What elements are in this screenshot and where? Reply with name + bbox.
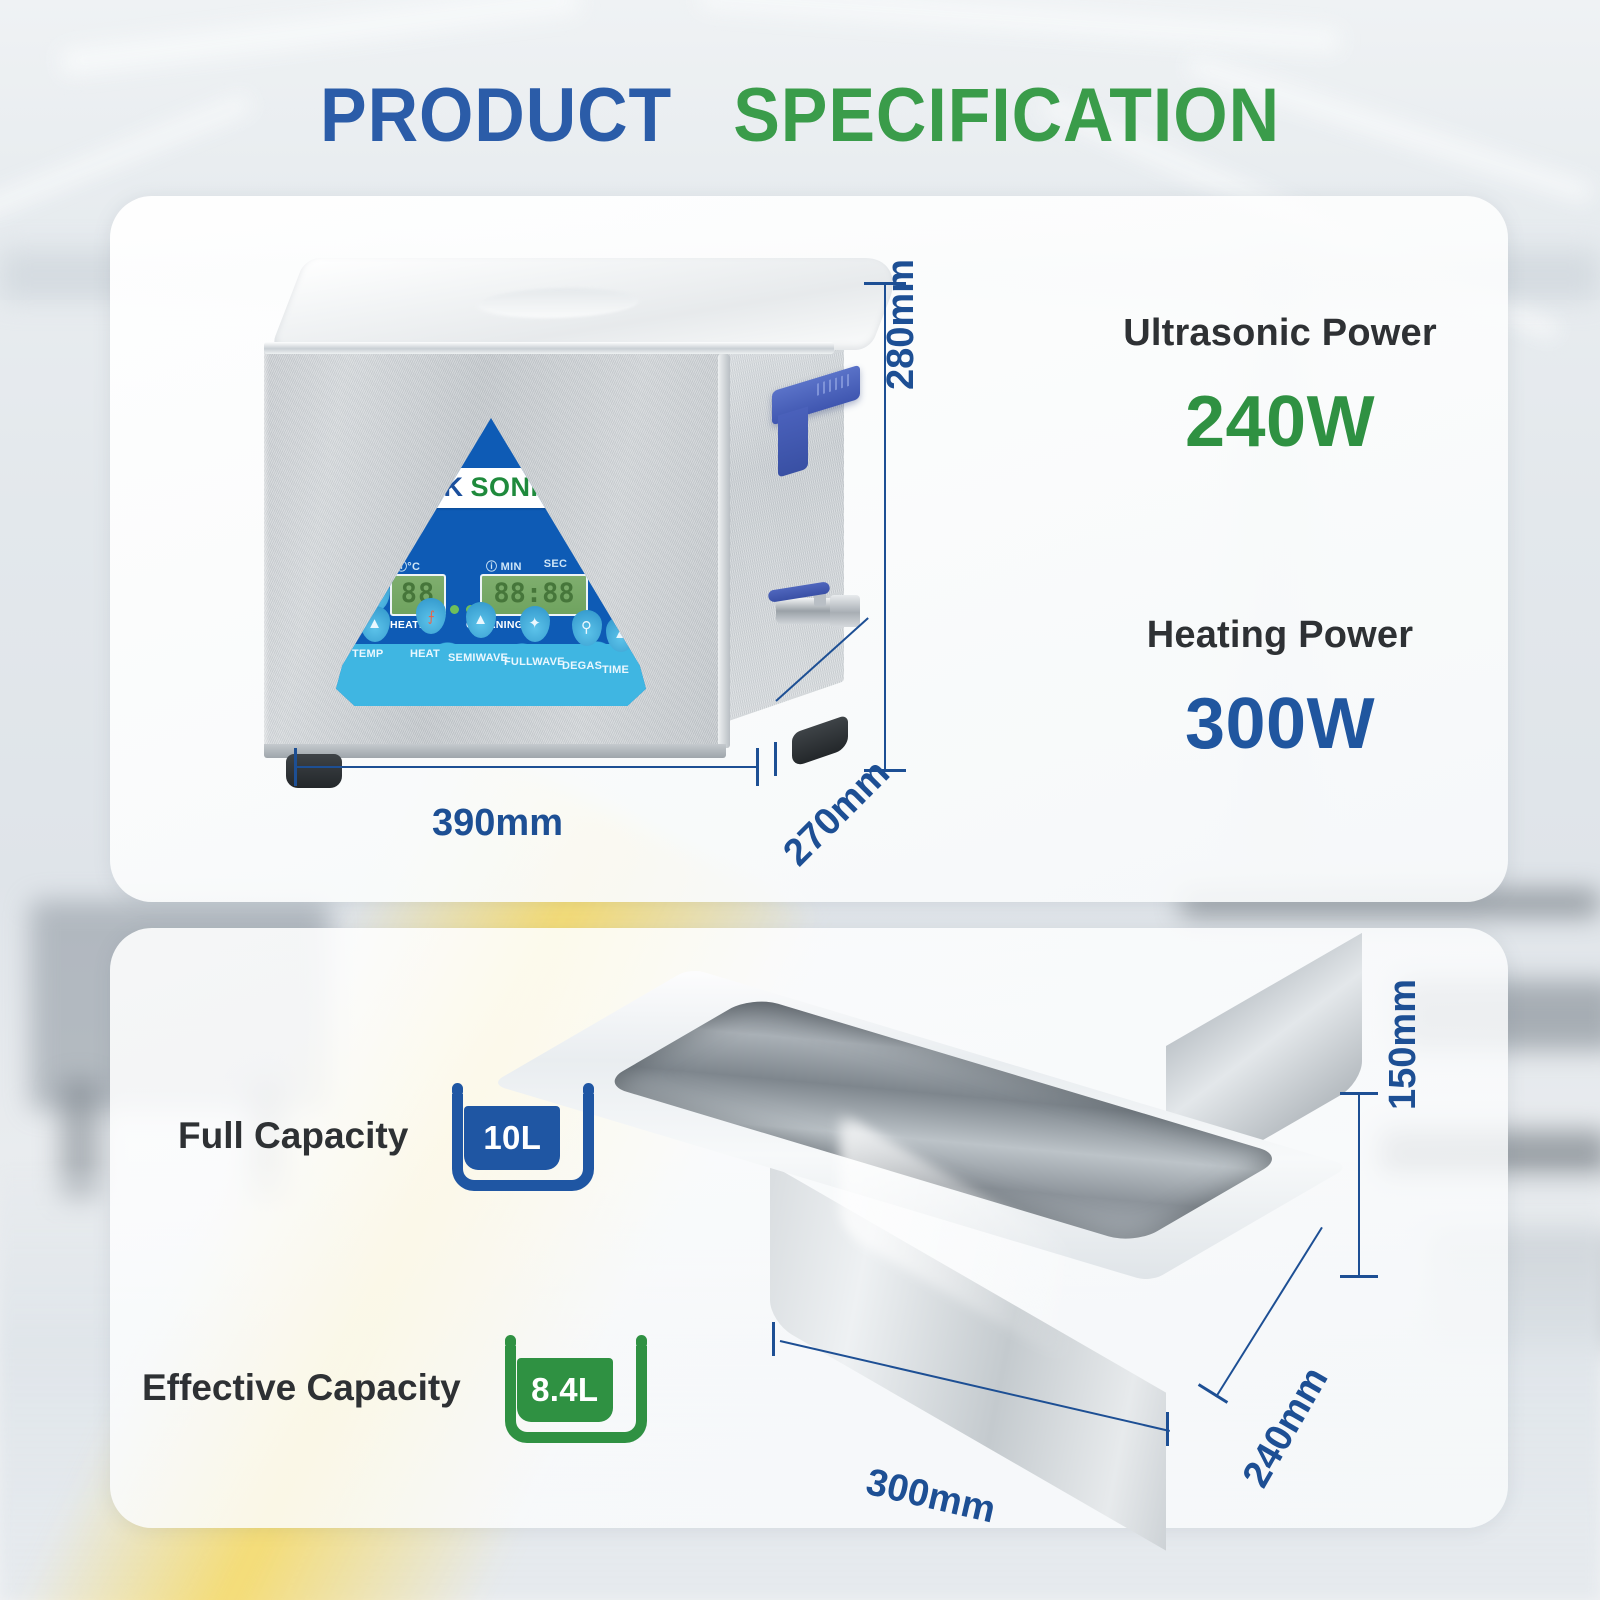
effective-capacity-tank-icon: 8.4L [505, 1340, 625, 1436]
thermometer-icon: ⨍ [427, 609, 434, 623]
machine-width-label: 390mm [432, 802, 563, 845]
degas-icon: ⚲ [582, 621, 593, 636]
full-capacity-label: Full Capacity [178, 1115, 408, 1157]
machine-corner-edge [718, 354, 730, 748]
ultrasonic-power-value: 240W [1070, 381, 1490, 463]
heating-power-label: Heating Power [1070, 614, 1490, 657]
machine-lid [270, 258, 905, 350]
width-dim-tick [756, 748, 759, 786]
timer-sec-label: SEC [544, 558, 568, 574]
title-part-product: PRODUCT [320, 73, 672, 158]
machine-height-label: 280mm [880, 259, 923, 390]
tank-height-tick [1340, 1275, 1378, 1278]
tank-height-tick [1340, 1092, 1378, 1095]
ball-valve[interactable] [768, 584, 864, 624]
timer-min-label: ⓘ MIN [486, 558, 522, 574]
ultrasonic-cleaner-illustration: DKSONIC ⓘ°C 88 HEATING ⓘ MIN SEC 88:88 C… [252, 258, 912, 798]
valve-nut [830, 595, 860, 627]
ultrasonic-power-spec: Ultrasonic Power 240W [1070, 312, 1490, 463]
temp-button-label: TEMP [352, 648, 383, 660]
tank-height-dim-line [1358, 1092, 1360, 1278]
tank-width-tick [1166, 1412, 1169, 1446]
semiwave-button[interactable]: ▲ [466, 602, 496, 638]
machine-lid-rim [264, 342, 834, 354]
full-capacity-value: 10L [483, 1119, 541, 1157]
full-capacity-row: Full Capacity 10L [178, 1088, 572, 1184]
ultrasonic-power-label: Ultrasonic Power [1070, 312, 1490, 355]
fullwave-button[interactable]: ✦ [520, 606, 550, 642]
fullwave-button-label: FULLWAVE [504, 656, 565, 668]
heat-button-label: HEAT [410, 648, 440, 660]
tank-height-label: 150mm [1382, 979, 1425, 1110]
effective-capacity-value: 8.4L [531, 1371, 598, 1409]
button-row: ▼ ▲ TEMP ⨍ HEAT ▲ SEMIWAVE ✦ FULLWAVE ⚲ … [344, 576, 638, 672]
machine-lid-dimple [467, 288, 650, 318]
depth-dim-tick [774, 742, 777, 776]
semiwave-button-label: SEMIWAVE [448, 652, 508, 664]
full-capacity-tank-icon: 10L [452, 1088, 572, 1184]
tub-fill: 8.4L [517, 1358, 613, 1422]
degas-button[interactable]: ⚲ [572, 610, 602, 646]
page-title: PRODUCT SPECIFICATION [64, 72, 1536, 159]
machine-foot [792, 714, 848, 767]
heating-power-spec: Heating Power 300W [1070, 614, 1490, 765]
fullwave-icon: ✦ [529, 617, 542, 632]
tub-fill: 10L [464, 1106, 560, 1170]
semiwave-icon: ▲ [474, 613, 489, 628]
tank-width-tick [772, 1322, 775, 1356]
width-dim-tick [294, 748, 297, 786]
effective-capacity-row: Effective Capacity 8.4L [142, 1340, 625, 1436]
heat-button[interactable]: ⨍ [416, 598, 446, 634]
title-part-specification: SPECIFICATION [733, 73, 1280, 158]
time-button-label: TIME [602, 664, 629, 676]
effective-capacity-label: Effective Capacity [142, 1367, 461, 1409]
width-dim-line [296, 766, 758, 768]
heating-power-value: 300W [1070, 683, 1490, 765]
degas-button-label: DEGAS [562, 660, 602, 672]
handle-fins-icon [817, 373, 851, 395]
tank-illustration [690, 968, 1350, 1338]
